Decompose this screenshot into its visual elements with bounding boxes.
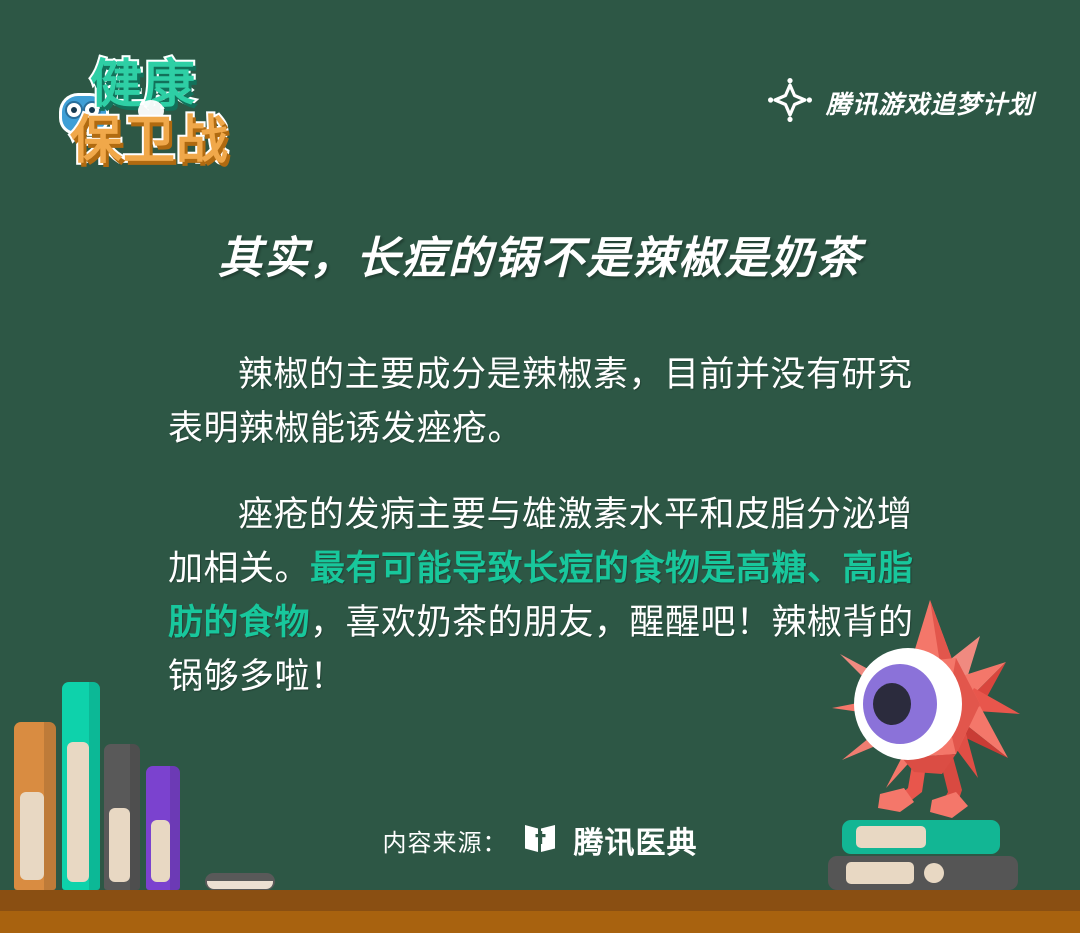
poster-canvas: 健康 保卫战 腾讯游戏追梦计划 其实，长痘的锅不是辣椒是奶茶 辣椒的主要成分是辣… (0, 0, 1080, 933)
book-gray (104, 744, 140, 890)
book-teal (62, 682, 100, 890)
book-shade (130, 744, 140, 890)
book-flat (205, 873, 275, 890)
red-virus-creature-icon (830, 592, 1030, 838)
book-orange (14, 722, 56, 890)
book-dot-decor (924, 863, 944, 883)
brand-logo: 健康 保卫战 (52, 42, 252, 172)
medical-book-icon (522, 821, 560, 860)
source-label: 内容来源： (383, 823, 508, 858)
book-label (109, 808, 130, 882)
mascot-stage (824, 590, 1044, 890)
book-label (67, 742, 89, 882)
program-mark: 腾讯游戏追梦计划 (768, 78, 1034, 127)
book-label (151, 820, 171, 882)
book-shade (89, 682, 100, 890)
paragraph-1: 辣椒的主要成分是辣椒素，目前并没有研究表明辣椒能诱发痤疮。 (168, 348, 928, 456)
page-title: 其实，长痘的锅不是辣椒是奶茶 (0, 222, 1080, 286)
book-shade (44, 722, 56, 890)
stack-book-gray (828, 856, 1018, 890)
book-purple (146, 766, 180, 890)
book-label (846, 862, 914, 884)
program-name: 腾讯游戏追梦计划 (826, 85, 1034, 121)
four-point-star-icon (768, 78, 812, 127)
left-book-decor (0, 630, 300, 890)
book-shade (170, 766, 180, 890)
source-name: 腾讯医典 (574, 818, 698, 862)
book-label (20, 792, 44, 880)
book-pages (207, 881, 273, 889)
wood-shelf (0, 890, 1080, 933)
logo-text-line2: 保卫战 (70, 98, 229, 173)
shelf-top-edge (0, 890, 1080, 911)
shelf-face (0, 911, 1080, 933)
